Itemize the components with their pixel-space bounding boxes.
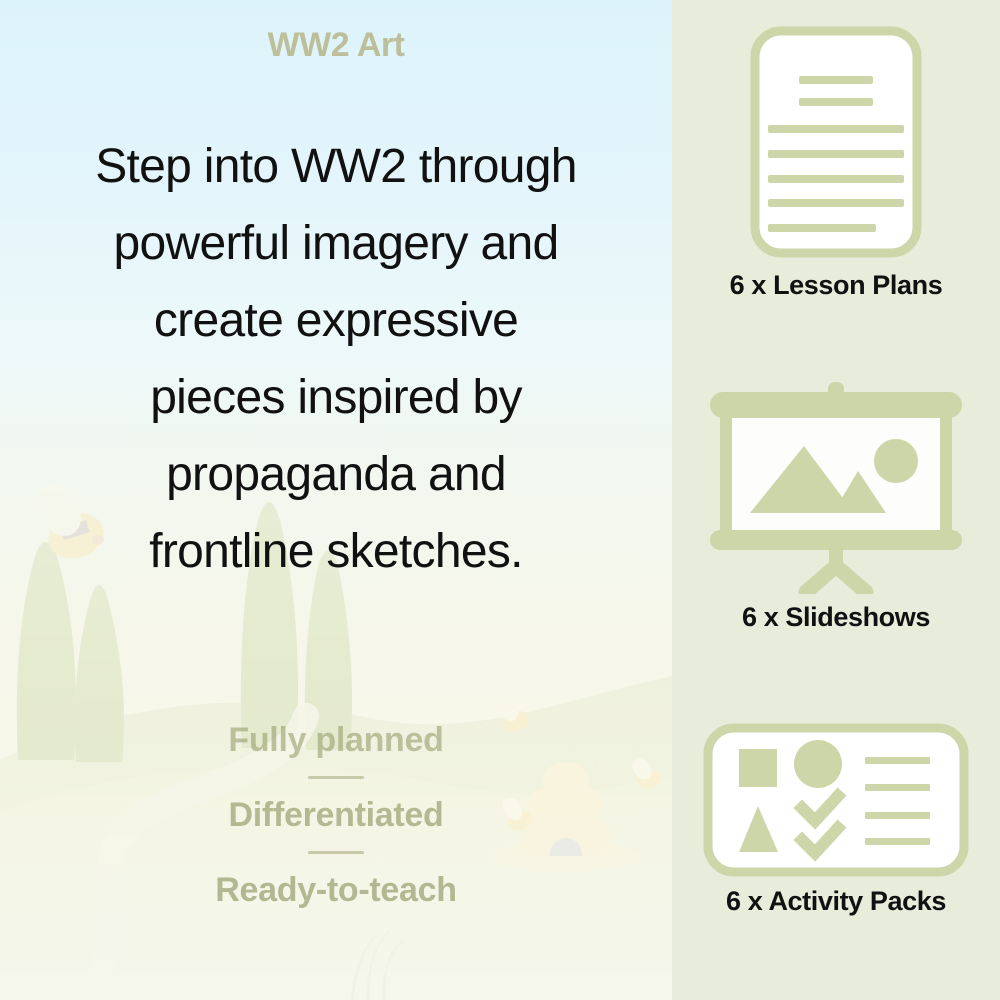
feature-divider bbox=[308, 776, 364, 779]
asset-label-lesson-plans: 6 x Lesson Plans bbox=[672, 270, 1000, 301]
asset-item-activity-packs: 6 x Activity Packs bbox=[672, 722, 1000, 917]
asset-item-slideshows: 6 x Slideshows bbox=[672, 382, 1000, 633]
description-line: powerful imagery and bbox=[28, 205, 644, 282]
page-title: WW2 Art bbox=[0, 26, 672, 65]
description-paragraph: Step into WW2 through powerful imagery a… bbox=[28, 128, 644, 590]
feature-divider bbox=[308, 851, 364, 854]
projector-screen-icon bbox=[702, 382, 970, 594]
resource-summary-panel: 6 x Lesson Plans bbox=[672, 0, 1000, 1000]
promo-graphic: WW2 Art Step into WW2 through powerful i… bbox=[0, 0, 1000, 1000]
feature-item-ready-to-teach: Ready-to-teach bbox=[0, 868, 672, 912]
feature-highlights: Fully planned Differentiated Ready-to-te… bbox=[0, 718, 672, 912]
feature-item-differentiated: Differentiated bbox=[0, 793, 672, 837]
description-line: Step into WW2 through bbox=[28, 128, 644, 205]
document-icon bbox=[746, 22, 926, 262]
asset-label-activity-packs: 6 x Activity Packs bbox=[672, 886, 1000, 917]
grass-tufts bbox=[352, 930, 404, 1000]
description-line: frontline sketches. bbox=[28, 513, 644, 590]
description-line: create expressive bbox=[28, 282, 644, 359]
activity-card-icon bbox=[702, 722, 970, 878]
asset-label-slideshows: 6 x Slideshows bbox=[672, 602, 1000, 633]
feature-item-fully-planned: Fully planned bbox=[0, 718, 672, 762]
description-line: pieces inspired by bbox=[28, 359, 644, 436]
left-content-panel: WW2 Art Step into WW2 through powerful i… bbox=[0, 0, 672, 1000]
description-line: propaganda and bbox=[28, 436, 644, 513]
asset-item-lesson-plans: 6 x Lesson Plans bbox=[672, 22, 1000, 301]
